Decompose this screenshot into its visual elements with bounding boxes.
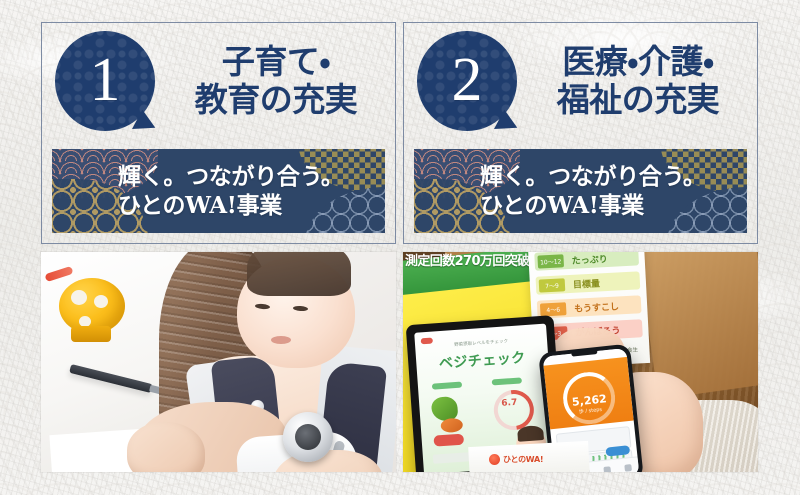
card-banner-text-1: 輝く。つながり合う。 ひとのWA!事業: [52, 149, 385, 233]
banner-1-line1: 輝く。つながり合う。: [118, 162, 385, 191]
photo-baby-examination: [41, 252, 396, 472]
banner-2-line1: 輝く。つながり合う。: [480, 162, 747, 191]
badge-number-2: 2: [417, 31, 517, 131]
card-title-2-line2: 福祉の充実: [525, 81, 751, 119]
baby-hair: [247, 252, 351, 296]
poster-row-3-label: もうすこし: [574, 299, 619, 314]
tablet-app-title: ベジチェック: [416, 346, 549, 375]
banner-1-line2: ひとのWA!事業: [118, 191, 385, 220]
card-title-1-line1: 子育て・: [163, 43, 389, 81]
carrot-illustration-icon: [440, 418, 463, 434]
card-banner-1: 輝く。つながり合う。 ひとのWA!事業: [52, 149, 385, 233]
card-title-2: 医療・介護・ 福祉の充実: [517, 43, 757, 120]
logo-circle-icon: [489, 454, 500, 465]
poster-row-2-range: 7〜9: [539, 278, 566, 292]
card-title-1: 子育て・ 教育の充実: [155, 43, 395, 120]
poster-row-3: 4〜6 もうすこし: [537, 295, 642, 318]
toy-base-icon: [71, 326, 111, 342]
card-title-1-line2: 教育の充実: [163, 81, 389, 119]
badge-number-1: 1: [55, 31, 155, 131]
poster-row-1: 10〜12 たっぷり: [534, 252, 639, 271]
feature-card-2: 2 医療・介護・ 福祉の充実 輝く。つながり合う。 ひとのWA!事業: [403, 22, 758, 244]
banner-2-line2: ひとのWA!事業: [480, 191, 747, 220]
card-banner-2: 輝く。つながり合う。 ひとのWA!事業: [414, 149, 747, 233]
feature-card-1: 1 子育て・ 教育の充実 輝く。つながり合う。 ひとのWA!事業: [41, 22, 396, 244]
card-header-2: 2 医療・介護・ 福祉の充実: [404, 23, 757, 139]
logo-text: ひとのWA!: [503, 454, 543, 465]
poster-row-2: 7〜9 目標量: [536, 271, 641, 294]
card-title-2-line1: 医療・介護・: [525, 43, 751, 81]
tab-profile-icon[interactable]: [624, 464, 632, 472]
tablet-action-button[interactable]: [433, 434, 464, 447]
brand-logo: ひとのWA!: [489, 452, 565, 468]
photo-health-app-demo: 測定回数270万回突破! 10〜12 たっぷり 7〜9 目標量 4〜6 もうすこ…: [403, 252, 758, 472]
stethoscope-chestpiece-icon: [283, 412, 333, 462]
poster-row-1-label: たっぷり: [571, 252, 608, 266]
poster-row-3-range: 4〜6: [540, 302, 567, 316]
page-root: 1 子育て・ 教育の充実 輝く。つながり合う。 ひとのWA!事業 2: [0, 0, 800, 495]
poster-row-2-label: 目標量: [573, 276, 601, 290]
tablet-label-pill-right: [492, 377, 522, 385]
number-badge-1: 1: [55, 31, 155, 131]
baby-mouth: [271, 336, 291, 344]
card-header-1: 1 子育て・ 教育の充実: [42, 23, 395, 139]
tab-rewards-icon[interactable]: [603, 466, 611, 472]
number-badge-2: 2: [417, 31, 517, 131]
poster-row-1-range: 10〜12: [537, 254, 564, 268]
card-banner-text-2: 輝く。つながり合う。 ひとのWA!事業: [414, 149, 747, 233]
tablet-label-pill-left: [432, 382, 462, 390]
